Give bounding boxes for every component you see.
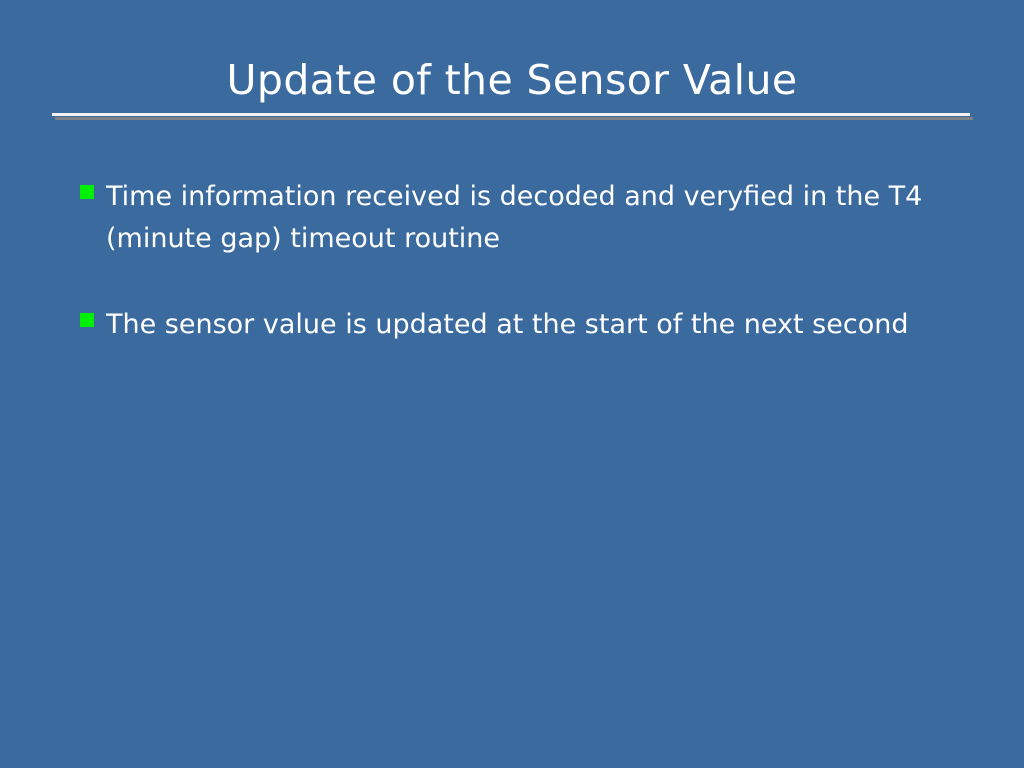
presentation-slide: Update of the Sensor Value Time informat… (0, 0, 1024, 768)
divider-line (52, 113, 970, 116)
slide-body-bullet-list: Time information received is decoded and… (80, 176, 940, 346)
green-square-bullet-icon (80, 185, 94, 199)
list-item-label: The sensor value is updated at the start… (106, 304, 930, 346)
green-square-bullet-icon (80, 313, 94, 327)
title-divider (52, 113, 970, 120)
page-title: Update of the Sensor Value (0, 56, 1024, 104)
divider-shadow (55, 117, 973, 120)
list-item: The sensor value is updated at the start… (80, 304, 940, 346)
slide-title-block: Update of the Sensor Value (0, 56, 1024, 104)
list-item-label: Time information received is decoded and… (106, 176, 934, 260)
list-item: Time information received is decoded and… (80, 176, 940, 260)
